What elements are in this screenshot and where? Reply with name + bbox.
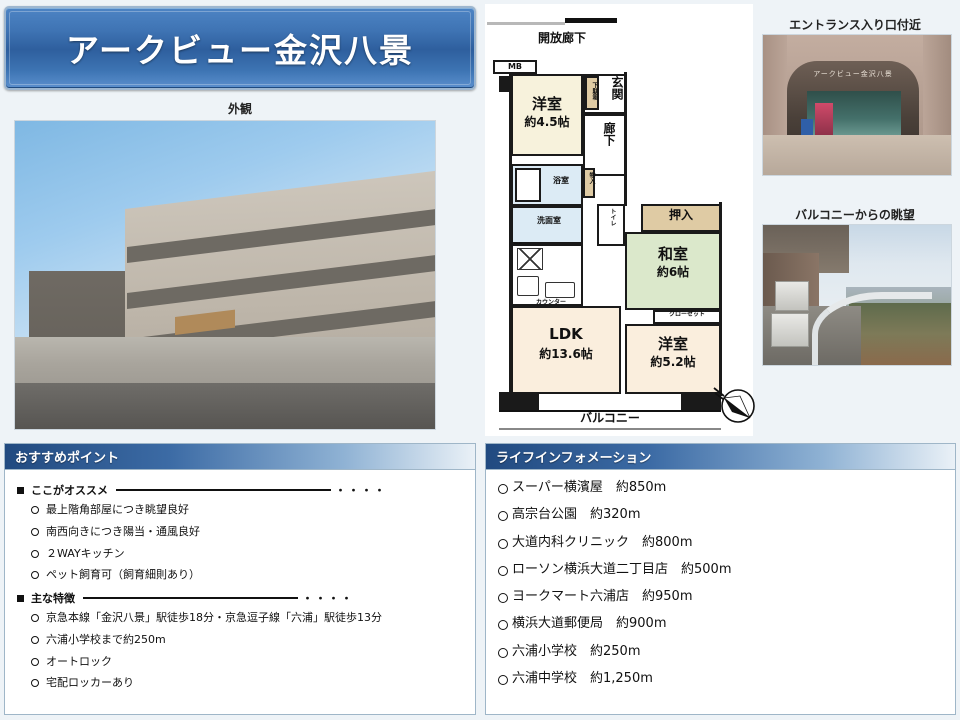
life-item-text: 大道内科クリニック 約800m (512, 535, 692, 551)
life-panel-body: スーパー横濱屋 約850m 高宗台公園 約320m 大道内科クリニック 約800… (486, 470, 955, 706)
label-oshiire: 押入 (641, 209, 721, 223)
label-washitsu: 和室 (625, 246, 721, 263)
caption-exterior: 外観 (4, 100, 476, 117)
life-panel-header: ライフインフォメーション (486, 444, 955, 470)
points-group-label-2: 主な特徴 (31, 590, 75, 606)
circle-bullet-icon (498, 620, 508, 630)
life-item-text: 横浜大道郵便局 約900m (512, 616, 666, 632)
floorplan-diagram: 開放廊下 MB 洋室 約4.5帖 玄関 下駄箱 廊下 浴室 物入 洗面室 PS … (485, 4, 753, 436)
life-item: 大道内科クリニック 約800m (498, 535, 943, 551)
point-item-text: 南西向きにつき陽当・通風良好 (46, 525, 200, 539)
caption-balcony-view: バルコニーからの眺望 (755, 206, 955, 223)
entrance-photo: アークビュー金沢八景 (762, 34, 952, 176)
exterior-wall-left (509, 72, 512, 396)
ac-outdoor-unit-2 (771, 313, 809, 347)
points-panel-title: おすすめポイント (15, 447, 119, 466)
life-item: 高宗台公園 約320m (498, 507, 943, 523)
point-item: ２WAYキッチン (31, 547, 463, 561)
label-ldk: LDK (511, 326, 621, 343)
points-group-header-2: 主な特徴 ・・・・ (17, 590, 463, 606)
circle-bullet-icon (31, 658, 39, 666)
points-group-dots-1: ・・・・ (335, 482, 387, 498)
circle-bullet-icon (498, 511, 508, 521)
points-panel-header: おすすめポイント (5, 444, 475, 470)
point-item: ペット飼育可（飼育細則あり） (31, 568, 463, 582)
property-title-bar: アークビュー金沢八景 (4, 6, 476, 90)
label-mb: MB (493, 62, 537, 71)
point-item: 宅配ロッカーあり (31, 676, 463, 690)
point-item: 京急本線「金沢八景」駅徒歩18分・京急逗子線「六浦」駅徒歩13分 (31, 611, 463, 625)
point-item-text: ２WAYキッチン (46, 547, 125, 561)
label-getabako: 下駄箱 (587, 82, 597, 100)
bathtub (515, 168, 541, 202)
point-item-text: ペット飼育可（飼育細則あり） (46, 568, 200, 582)
circle-bullet-icon (498, 675, 508, 685)
divider-rule (83, 597, 298, 599)
exterior-wall-right (719, 202, 722, 396)
corridor-rail-thick (565, 18, 617, 23)
life-item: 横浜大道郵便局 約900m (498, 616, 943, 632)
points-group-dots-2: ・・・・ (302, 590, 354, 606)
points-panel-body: ここがオススメ ・・・・ 最上階角部屋につき眺望良好 南西向きにつき陽当・通風良… (5, 470, 475, 706)
life-item: ヨークマート六浦店 約950m (498, 589, 943, 605)
life-item-text: スーパー横濱屋 約850m (512, 480, 666, 496)
life-item: 六浦中学校 約1,250m (498, 671, 943, 687)
label-ldk-size: 約13.6帖 (507, 348, 625, 362)
page-title: アークビュー金沢八景 (66, 24, 414, 72)
circle-bullet-icon (31, 528, 39, 536)
entrance-floor (763, 135, 951, 175)
label-room-south-size: 約5.2帖 (621, 356, 725, 370)
life-information-panel: ライフインフォメーション スーパー横濱屋 約850m 高宗台公園 約320m 大… (485, 443, 956, 715)
recommended-points-panel: おすすめポイント ここがオススメ ・・・・ 最上階角部屋につき眺望良好 南西向き… (4, 443, 476, 715)
circle-bullet-icon (498, 566, 508, 576)
circle-bullet-icon (31, 571, 39, 579)
life-panel-title: ライフインフォメーション (496, 447, 651, 466)
label-closet: クローゼット (653, 312, 721, 319)
circle-bullet-icon (498, 539, 508, 549)
label-room-west: 洋室 (511, 96, 583, 113)
circle-bullet-icon (498, 648, 508, 658)
point-item-text: 京急本線「金沢八景」駅徒歩18分・京急逗子線「六浦」駅徒歩13分 (46, 611, 382, 625)
life-item-text: ローソン横浜大道二丁目店 約500m (512, 562, 731, 578)
balcony-outer-edge (499, 428, 721, 430)
point-item-text: 最上階角部屋につき眺望良好 (46, 503, 189, 517)
label-washroom: 洗面室 (521, 216, 577, 225)
exterior-photo (14, 120, 436, 430)
corridor-rail-thin (487, 22, 565, 25)
bullet-square-icon (17, 595, 24, 602)
life-item-text: 六浦中学校 約1,250m (512, 671, 653, 687)
refrigerator-space (517, 248, 543, 270)
label-hallway: 廊下 (595, 122, 615, 146)
circle-bullet-icon (31, 550, 39, 558)
point-item: オートロック (31, 655, 463, 669)
property-flyer: アークビュー金沢八景 外観 間取り エントランス入り口付近 バルコニーからの眺望… (0, 0, 960, 720)
caption-entrance: エントランス入り口付近 (755, 16, 955, 33)
points-group-header-1: ここがオススメ ・・・・ (17, 482, 463, 498)
entrance-building-sign: アークビュー金沢八景 (793, 69, 913, 81)
exterior-wall-mid-right (624, 72, 627, 206)
label-washitsu-size: 約6帖 (625, 266, 721, 280)
label-room-west-size: 約4.5帖 (507, 116, 587, 130)
point-item-text: 宅配ロッカーあり (46, 676, 134, 690)
life-item-text: ヨークマート六浦店 約950m (512, 589, 692, 605)
life-item: スーパー横濱屋 約850m (498, 480, 943, 496)
road (15, 383, 435, 429)
bullet-square-icon (17, 487, 24, 494)
point-item-text: 六浦小学校まで約250m (46, 633, 166, 647)
stove-icon (517, 276, 539, 296)
point-item: 最上階角部屋につき眺望良好 (31, 503, 463, 517)
sink-icon (545, 282, 575, 298)
label-room-south: 洋室 (625, 336, 721, 353)
circle-bullet-icon (31, 614, 39, 622)
circle-bullet-icon (498, 484, 508, 494)
life-item: ローソン横浜大道二丁目店 約500m (498, 562, 943, 578)
points-group-label-1: ここがオススメ (31, 482, 108, 498)
label-genkan: 玄関 (603, 76, 623, 100)
point-item: 六浦小学校まで約250m (31, 633, 463, 647)
label-bathroom: 浴室 (541, 176, 581, 185)
balcony-view-photo (762, 224, 952, 366)
circle-bullet-icon (31, 679, 39, 687)
point-item: 南西向きにつき陽当・通風良好 (31, 525, 463, 539)
label-balcony: バルコニー (547, 412, 673, 426)
divider-rule (116, 489, 331, 491)
point-item-text: オートロック (46, 655, 112, 669)
circle-bullet-icon (498, 593, 508, 603)
compass-icon (712, 382, 756, 426)
label-monoire: 物入 (584, 172, 594, 184)
label-open-corridor: 開放廊下 (527, 32, 597, 46)
circle-bullet-icon (31, 636, 39, 644)
circle-bullet-icon (31, 506, 39, 514)
balcony-wall-left (499, 392, 539, 410)
life-item-text: 六浦小学校 約250m (512, 644, 640, 660)
life-item: 六浦小学校 約250m (498, 644, 943, 660)
ac-outdoor-unit-1 (775, 281, 809, 311)
label-toilet: トイレ (603, 208, 615, 226)
life-item-text: 高宗台公園 約320m (512, 507, 640, 523)
